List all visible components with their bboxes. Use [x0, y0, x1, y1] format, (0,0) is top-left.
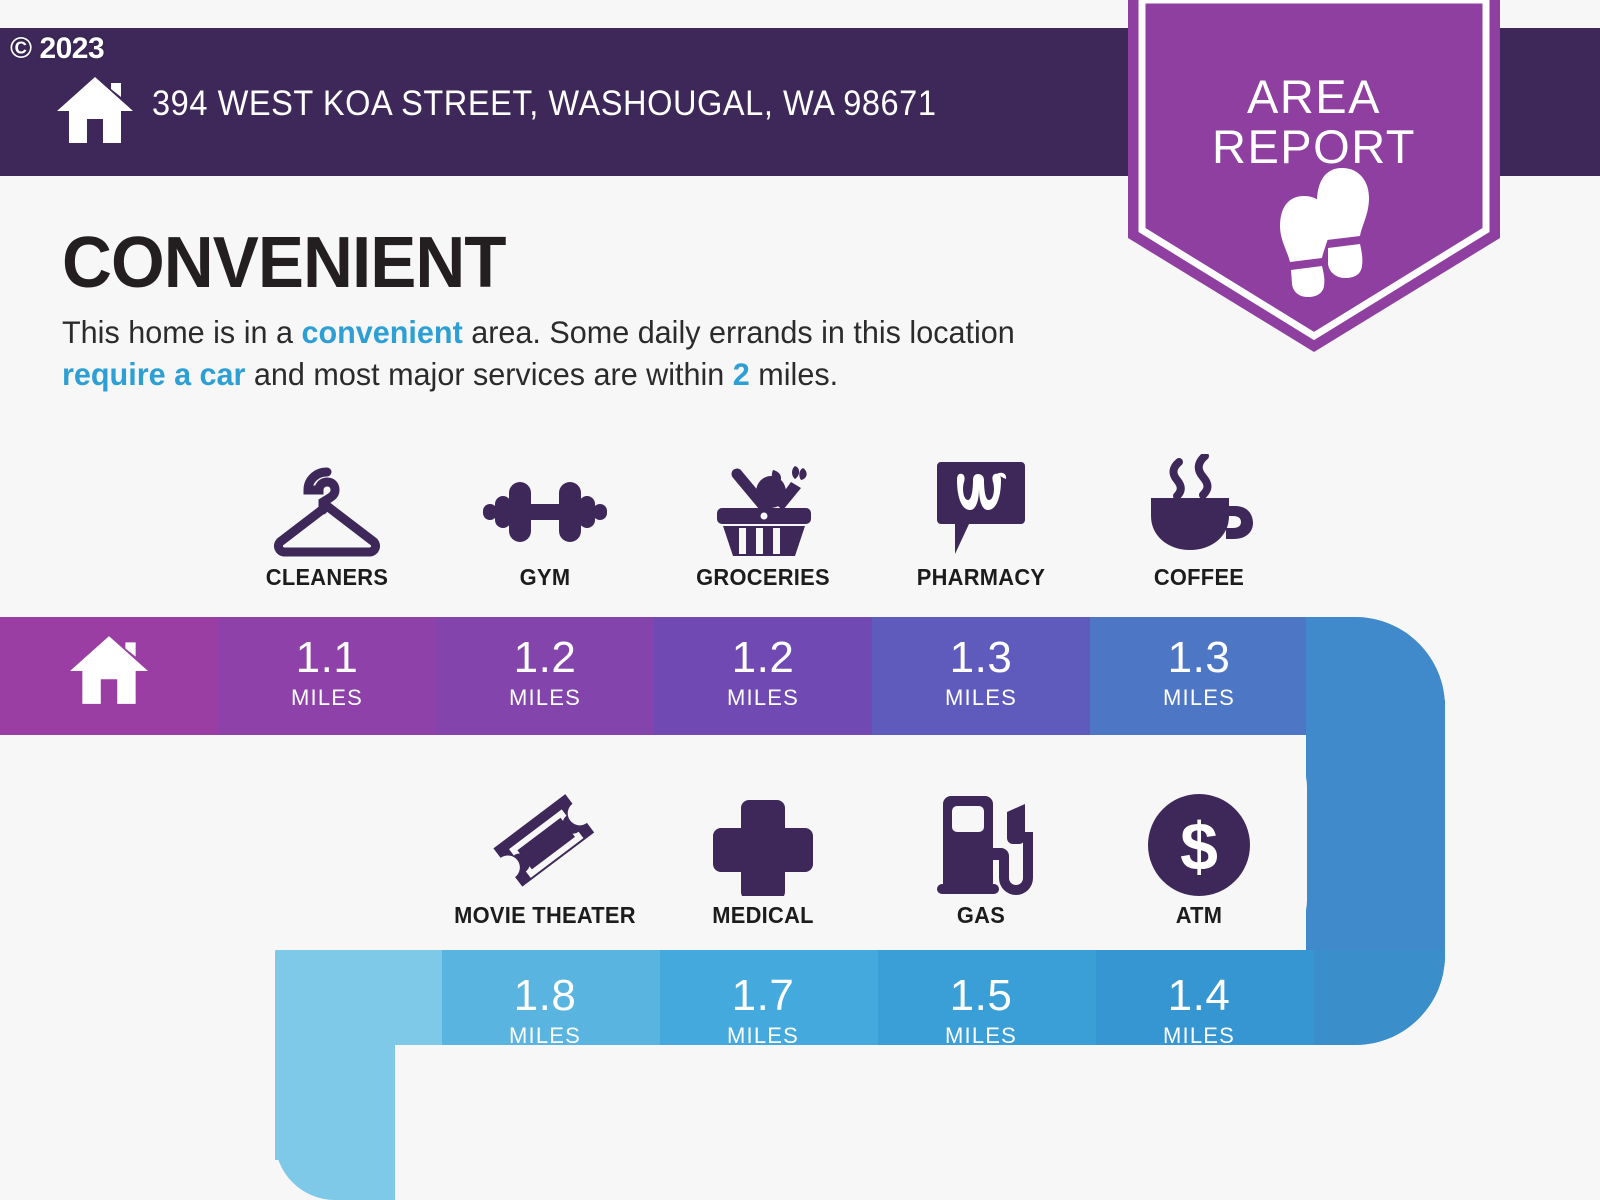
amenity-label: GROCERIES [659, 564, 866, 591]
blurb-part-3: and most major services are within [245, 356, 732, 392]
blurb-part-1: This home is in a [62, 314, 301, 350]
amenity-label: GAS [877, 902, 1084, 929]
home-marker-cell [0, 625, 218, 715]
walgreens-w-icon [872, 448, 1090, 558]
ribbon-right-cap [1314, 950, 1445, 1045]
row-1-icon-strip: CLEANERS GYM [0, 448, 1600, 598]
area-report-infographic: © 2023 394 WEST KOA STREET, WASHOUGAL, W… [0, 0, 1600, 1200]
amenity-movie-theater[interactable]: MOVIE THEATER [436, 786, 654, 929]
ticket-icon [436, 786, 654, 896]
blurb-highlight-miles: 2 [733, 356, 750, 392]
amenity-cleaners[interactable]: CLEANERS [218, 448, 436, 591]
summary-description: This home is in a convenient area. Some … [62, 312, 1042, 395]
amenity-label: COFFEE [1095, 564, 1302, 591]
ribbon-notch-lower [395, 1045, 1600, 1200]
amenity-label: GYM [441, 564, 648, 591]
amenity-medical[interactable]: MEDICAL [654, 786, 872, 929]
blurb-highlight-require-car: require a car [62, 356, 245, 392]
blurb-part-4: miles. [750, 356, 838, 392]
copyright-watermark: © 2023 [10, 32, 104, 66]
amenity-gas[interactable]: GAS [872, 786, 1090, 929]
dumbbell-icon [436, 448, 654, 558]
dollar-circle-icon: $ [1090, 786, 1308, 896]
amenity-label: CLEANERS [223, 564, 430, 591]
amenity-pharmacy[interactable]: PHARMACY [872, 448, 1090, 591]
amenity-label: PHARMACY [877, 564, 1084, 591]
coffee-cup-icon [1090, 448, 1308, 558]
medical-cross-icon [654, 786, 872, 896]
home-icon [55, 75, 135, 145]
page-title: CONVENIENT [62, 222, 506, 304]
home-icon [68, 634, 150, 706]
amenity-gym[interactable]: GYM [436, 448, 654, 591]
amenity-coffee[interactable]: COFFEE [1090, 448, 1308, 591]
blurb-part-2: area. Some daily errands in this locatio… [463, 314, 1015, 350]
amenity-atm[interactable]: $ ATM [1090, 786, 1308, 929]
row-2-icon-strip: MOVIE THEATER MEDICAL GAS [0, 786, 1600, 936]
property-address: 394 WEST KOA STREET, WASHOUGAL, WA 98671 [152, 84, 936, 124]
amenity-label: ATM [1095, 902, 1302, 929]
amenity-label: MOVIE THEATER [441, 902, 648, 929]
basket-icon [654, 448, 872, 558]
area-report-badge: AREA REPORT [1128, 0, 1500, 352]
ribbon-row-1 [0, 600, 1468, 740]
svg-text:$: $ [1180, 809, 1218, 885]
blurb-highlight-convenient: convenient [301, 314, 462, 350]
hanger-icon [218, 448, 436, 558]
amenity-groceries[interactable]: GROCERIES [654, 448, 872, 591]
amenity-label: MEDICAL [659, 902, 866, 929]
gas-pump-icon [872, 786, 1090, 896]
